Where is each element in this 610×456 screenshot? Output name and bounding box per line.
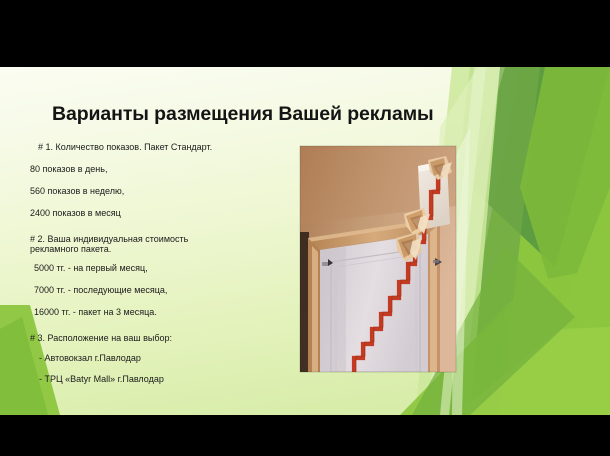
section-2-price-2: 7000 тг. - последующие месяца, [34,286,298,295]
section-2-price-1: 5000 тг. - на первый месяц, [34,264,298,273]
section-1: # 1. Количество показов. Пакет Стандарт.… [30,143,298,218]
section-1-line-1: 80 показов в день, [30,165,298,174]
section-2: # 2. Ваша индивидуальная стоимость рекла… [30,235,298,317]
door-with-rising-red-arrow-photo [300,146,456,372]
spacer-2 [30,317,298,334]
section-3: # 3. Расположение на ваш выбор: - Автово… [30,334,298,384]
section-2-heading-line-2: рекламного пакета. [30,245,298,254]
section-2-price-3: 16000 тг. - пакет на 3 месяца. [34,308,298,317]
section-1-heading: # 1. Количество показов. Пакет Стандарт. [38,143,298,152]
presentation-slide: Варианты размещения Вашей рекламы # 1. К… [0,67,610,415]
section-1-line-2: 560 показов в неделю, [30,187,298,196]
section-1-line-3: 2400 показов в месяц [30,209,298,218]
slide-body-text: # 1. Количество показов. Пакет Стандарт.… [30,143,298,384]
spacer-1 [30,218,298,235]
section-3-heading: # 3. Расположение на ваш выбор: [30,334,298,343]
slide-screenshot: Варианты размещения Вашей рекламы # 1. К… [0,0,610,456]
photo-content [300,146,456,372]
slide-title: Варианты размещения Вашей рекламы [52,103,472,126]
section-3-location-1: - Автовокзал г.Павлодар [39,354,298,363]
section-2-heading-line-1: # 2. Ваша индивидуальная стоимость [30,235,298,244]
section-3-location-2: - ТРЦ «Batyr Mall» г.Павлодар [39,375,298,384]
